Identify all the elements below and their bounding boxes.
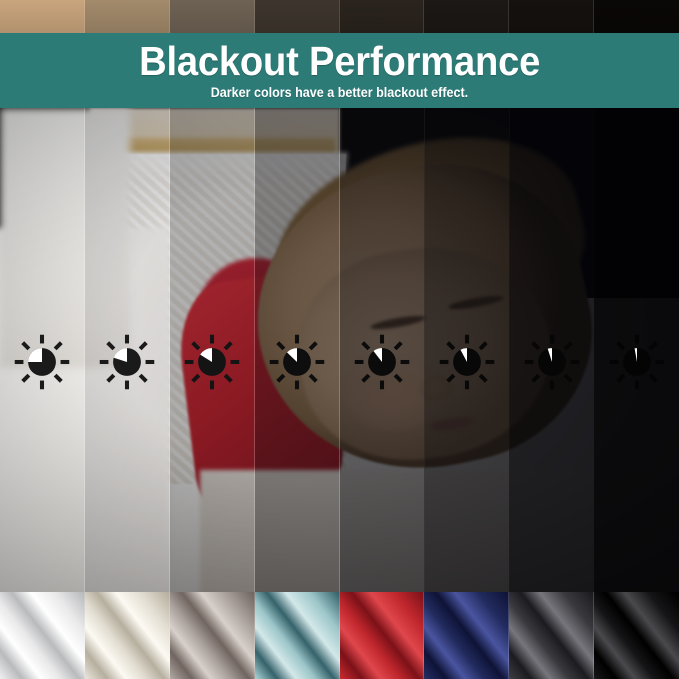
top-band-warm-taupe [85, 0, 170, 33]
fabric-swatch-navy[interactable] [424, 592, 509, 679]
swatch-sheen [85, 592, 170, 679]
fabric-swatch-strip [0, 592, 679, 679]
fabric-swatch-ivory[interactable] [85, 592, 170, 679]
blackout-column-black [594, 108, 679, 592]
blackout-column-taupe [170, 108, 255, 592]
blackout-column-dark-grey [509, 108, 594, 592]
fabric-swatch-taupe[interactable] [170, 592, 255, 679]
fabric-swatch-dark-grey[interactable] [509, 592, 594, 679]
page-subtitle: Darker colors have a better blackout eff… [211, 85, 468, 100]
top-band-brown-grey [170, 0, 255, 33]
top-band-near-black-brown [424, 0, 509, 33]
blackout-column-navy [424, 108, 509, 592]
top-band-charcoal-black [509, 0, 594, 33]
top-color-strip [0, 0, 679, 33]
title-banner: Blackout Performance Darker colors have … [0, 33, 679, 108]
blackout-overlay-columns [0, 108, 679, 592]
swatch-sheen [170, 592, 255, 679]
blackout-column-white [0, 108, 85, 592]
top-band-dark-brown [255, 0, 340, 33]
blackout-column-ivory [85, 108, 170, 592]
fabric-swatch-white[interactable] [0, 592, 85, 679]
blackout-demo-photo [0, 108, 679, 592]
top-band-deep-brown [340, 0, 425, 33]
page-title: Blackout Performance [139, 41, 540, 83]
swatch-sheen [424, 592, 509, 679]
blackout-column-red [340, 108, 425, 592]
fabric-swatch-red[interactable] [340, 592, 425, 679]
fabric-swatch-aqua[interactable] [255, 592, 340, 679]
blackout-column-aqua [255, 108, 340, 592]
fabric-swatch-black[interactable] [594, 592, 679, 679]
swatch-sheen [340, 592, 425, 679]
swatch-sheen [255, 592, 340, 679]
swatch-sheen [509, 592, 594, 679]
top-band-tan [0, 0, 85, 33]
blackout-performance-infographic: Blackout Performance Darker colors have … [0, 0, 679, 679]
top-band-black [594, 0, 679, 33]
swatch-sheen [594, 592, 679, 679]
swatch-sheen [0, 592, 85, 679]
